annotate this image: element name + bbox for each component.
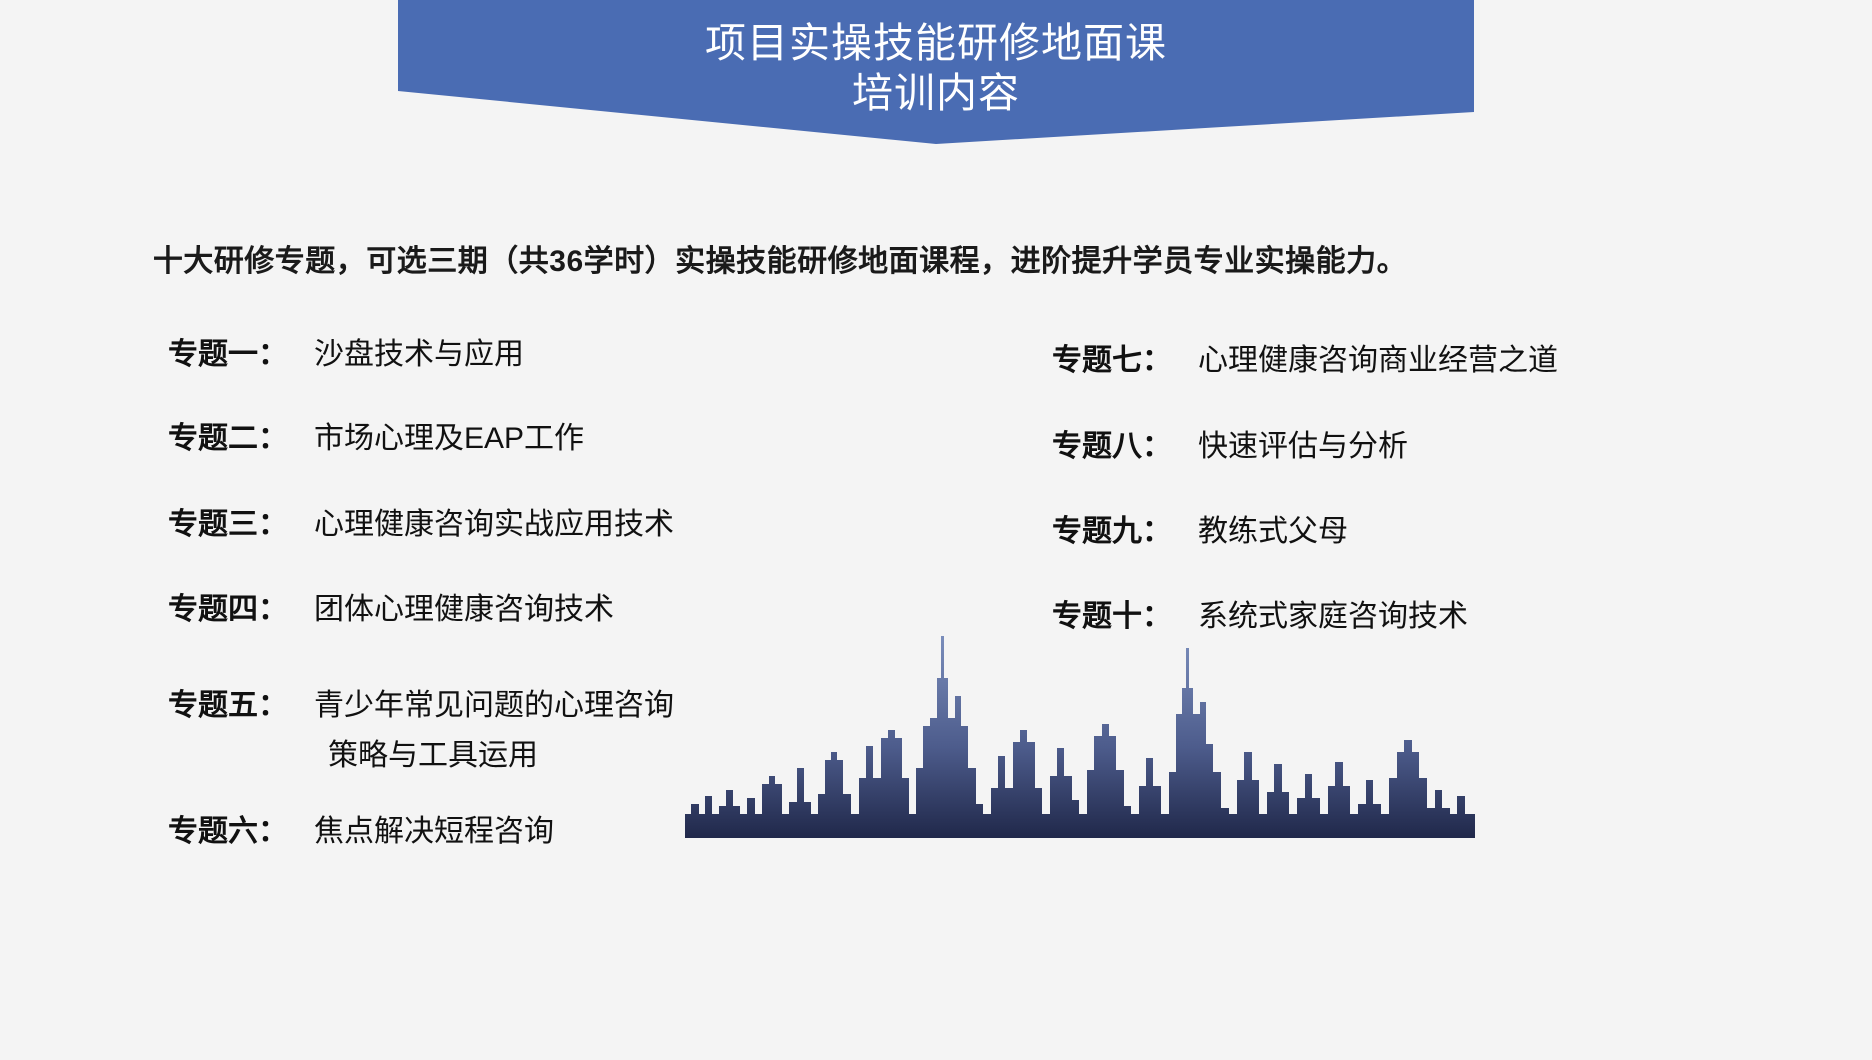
page-title-line-2: 培训内容 xyxy=(398,68,1474,118)
topic-label: 专题一： xyxy=(168,330,300,380)
topic-label: 专题五： xyxy=(168,681,300,731)
topic-text: 心理健康咨询实战应用技术 xyxy=(314,500,674,550)
list-item: 专题三： 心理健康咨询实战应用技术 xyxy=(168,500,674,550)
topic-label: 专题二： xyxy=(168,414,300,464)
page-title: 项目实操技能研修地面课 培训内容 xyxy=(398,0,1474,118)
list-item: 专题一： 沙盘技术与应用 xyxy=(168,330,524,380)
list-item: 专题四： 团体心理健康咨询技术 xyxy=(168,585,614,635)
list-item: 专题六： 焦点解决短程咨询 xyxy=(168,807,554,857)
subtitle-text: 十大研修专题，可选三期（共36学时）实操技能研修地面课程，进阶提升学员专业实操能… xyxy=(0,236,1560,280)
topic-label: 专题七： xyxy=(1052,336,1184,386)
page-title-line-1: 项目实操技能研修地面课 xyxy=(398,18,1474,68)
topic-label: 专题四： xyxy=(168,585,300,635)
topic-text: 心理健康咨询商业经营之道 xyxy=(1198,336,1558,386)
list-item: 专题八： 快速评估与分析 xyxy=(1052,422,1408,472)
topic-label: 专题八： xyxy=(1052,422,1184,472)
city-skyline-silhouette-icon xyxy=(685,618,1475,838)
topic-text: 沙盘技术与应用 xyxy=(314,330,524,380)
skyline-svg xyxy=(685,618,1475,838)
topic-text: 团体心理健康咨询技术 xyxy=(314,585,614,635)
header-banner: 项目实操技能研修地面课 培训内容 xyxy=(398,0,1474,144)
topic-text: 青少年常见问题的心理咨询 策略与工具运用 xyxy=(314,681,674,781)
topic-label: 专题六： xyxy=(168,807,300,857)
list-item: 专题五： 青少年常见问题的心理咨询 策略与工具运用 xyxy=(168,681,674,781)
topic-label: 专题三： xyxy=(168,500,300,550)
topic-text-line-2: 策略与工具运用 xyxy=(314,731,674,781)
topic-text: 市场心理及EAP工作 xyxy=(314,414,584,464)
list-item: 专题二： 市场心理及EAP工作 xyxy=(168,414,584,464)
topic-text-line-1: 青少年常见问题的心理咨询 xyxy=(314,689,674,722)
topic-text: 焦点解决短程咨询 xyxy=(314,807,554,857)
list-item: 专题九： 教练式父母 xyxy=(1052,507,1348,557)
topic-text: 快速评估与分析 xyxy=(1198,422,1408,472)
topic-label: 专题九： xyxy=(1052,507,1184,557)
list-item: 专题七： 心理健康咨询商业经营之道 xyxy=(1052,336,1558,386)
topic-text: 教练式父母 xyxy=(1198,507,1348,557)
